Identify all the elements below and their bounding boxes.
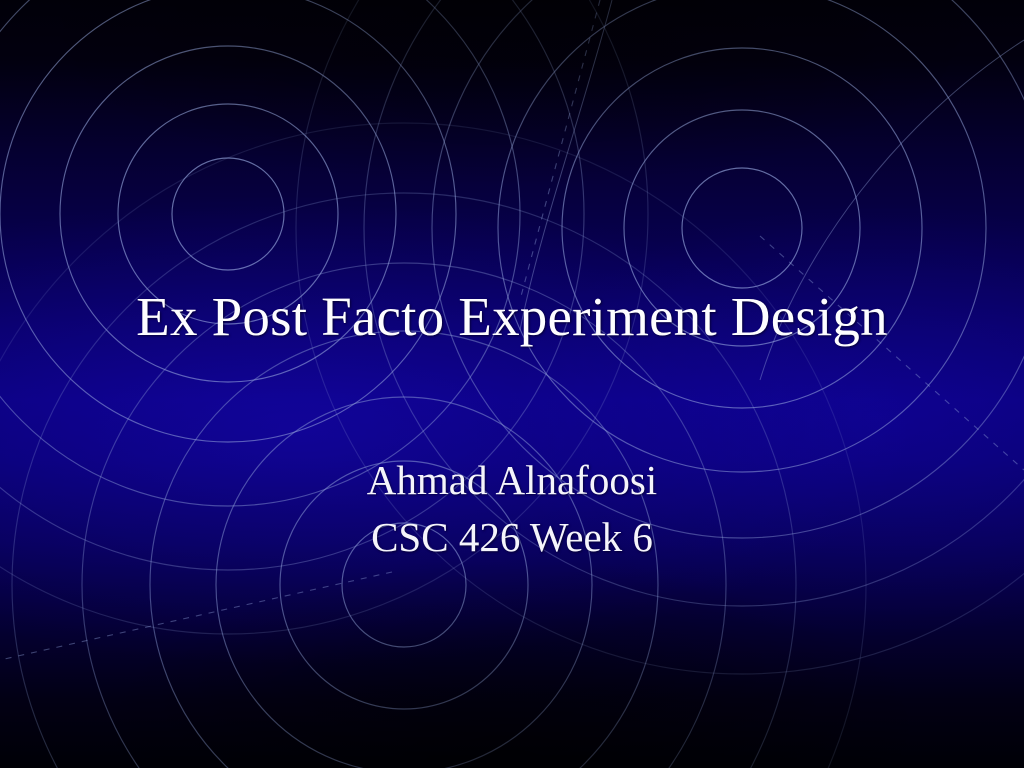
slide-title: Ex Post Facto Experiment Design — [0, 286, 1024, 348]
subtitle-line-author: Ahmad Alnafoosi — [0, 452, 1024, 509]
presentation-slide: Ex Post Facto Experiment Design Ahmad Al… — [0, 0, 1024, 768]
subtitle-line-course: CSC 426 Week 6 — [0, 509, 1024, 566]
slide-text-container: Ex Post Facto Experiment Design Ahmad Al… — [0, 0, 1024, 768]
slide-subtitle: Ahmad Alnafoosi CSC 426 Week 6 — [0, 452, 1024, 566]
